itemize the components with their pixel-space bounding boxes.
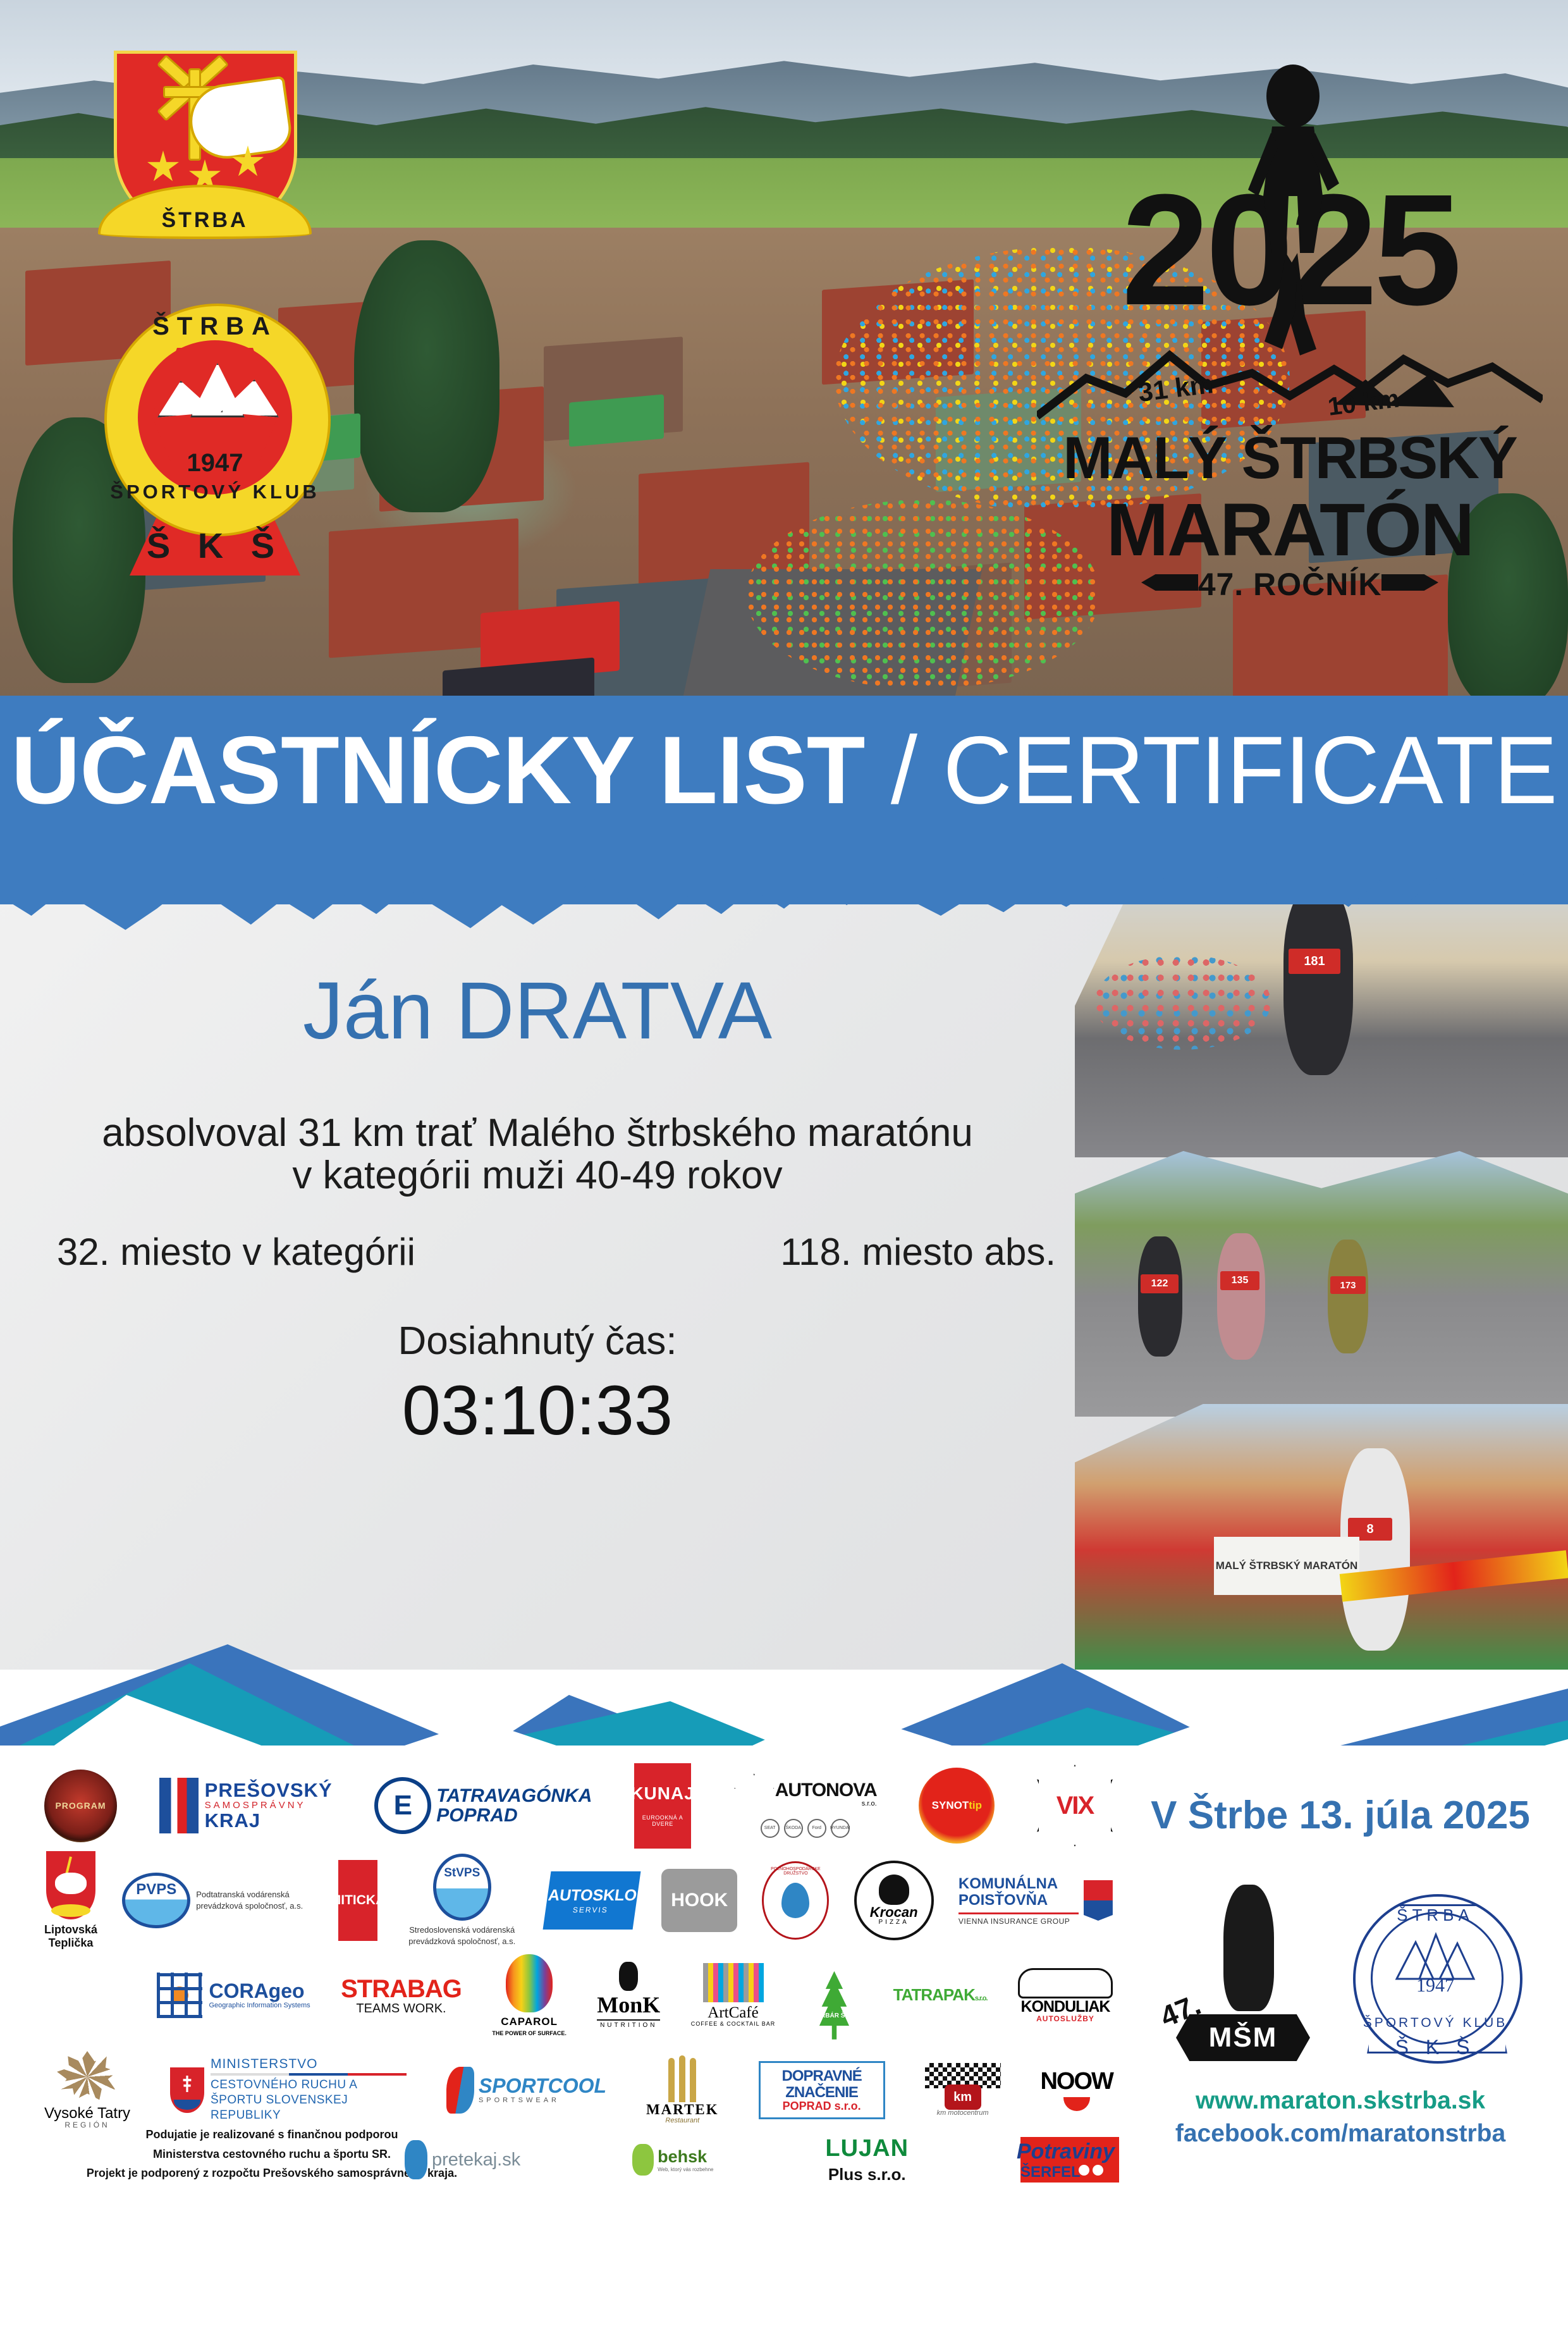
page-title: ÚČASTNÍCKY LIST / CERTIFICATE <box>0 722 1568 818</box>
club-emblems: ŠTRBA ŠTRBA 1947 ŠPORTOVÝ KLUB Š K Š <box>82 51 348 620</box>
sponsor-label: pretekaj.sk <box>432 2150 520 2170</box>
sponsor-ps-urbar-strba: PS URBÁR ŠTRBA <box>806 1971 862 2020</box>
sponsor-label: MITICKÁ <box>338 1860 377 1941</box>
sponsor-row-1: PROGRAM PREŠOVSKÝ SAMOSPRÁVNY KRAJ E TAT… <box>44 1758 1113 1853</box>
sponsor-label: NOOW <box>1040 2069 1112 2095</box>
tree-icon <box>814 1971 854 2040</box>
sponsor-program-trencin: PROGRAM <box>44 1770 117 1842</box>
sponsor-sublabel2: KRAJ <box>205 1811 333 1832</box>
sponsor-tatravagonka: E TATRAVAGÓNKA POPRAD <box>374 1777 592 1834</box>
sponsor-label: km motocentrum <box>925 2110 1001 2117</box>
race-title-line2: MARATÓN <box>1024 487 1555 573</box>
sks-club-emblem-icon: ŠTRBA 1947 ŠPORTOVÝ KLUB Š K Š <box>82 259 348 576</box>
brand-badge-ford: Ford <box>807 1819 826 1838</box>
sponsor-ministerstvo: MINISTERSTVO CESTOVNÉHO RUCHU A ŠPORTU S… <box>170 2057 407 2122</box>
sponsor-komunalna-poistovna: KOMUNÁLNA POISŤOVŇA VIENNA INSURANCE GRO… <box>959 1876 1113 1925</box>
sponsor-label: Krocan <box>870 1905 918 1919</box>
sponsor-label: HOOK <box>661 1869 737 1932</box>
sponsor-dopravne-znacenie: DOPRAVNÉ ZNAČENIE POPRAD s.r.o. <box>759 2061 885 2119</box>
bib-number: 173 <box>1330 1276 1366 1294</box>
brand-badge-seat: SEAT <box>761 1819 780 1838</box>
cutlery-icon <box>646 2055 719 2102</box>
sponsor-presovsky-kraj: PREŠOVSKÝ SAMOSPRÁVNY KRAJ <box>159 1778 333 1833</box>
photo-collage: 181 122 135 173 8 MALÝ ŠTRBSKÝ MARATÓN <box>1075 860 1568 1670</box>
artcafe-bars-icon <box>703 1963 764 2002</box>
brand-badge-skoda: ŠKODA <box>784 1819 803 1838</box>
runner-icon <box>619 1962 638 1991</box>
sponsor-grid: PROGRAM PREŠOVSKÝ SAMOSPRÁVNY KRAJ E TAT… <box>44 1758 1113 2138</box>
sponsor-sublabel: Teplička <box>44 1936 97 1950</box>
sponsor-pvps: PVPS Podtatranská vodárenská prevádzková… <box>122 1873 313 1928</box>
sponsor-miticka: MITICKÁ <box>338 1860 377 1941</box>
sponsor-sublabel: SPORTSWEAR <box>479 2097 606 2105</box>
sponsor-noow: NOOW <box>1040 2069 1112 2111</box>
corageo-grid-icon <box>157 1973 202 2018</box>
sponsor-sublabel: tip <box>969 1799 982 1811</box>
sponsor-caparol: CAPAROL THE POWER OF SURFACE. <box>492 1954 567 2036</box>
sponsor-vix: VIX <box>1037 1764 1113 1847</box>
page-title-en: CERTIFICATE <box>943 717 1557 824</box>
sponsor-label: TATRAVAGÓNKA <box>436 1786 592 1806</box>
mountain-peaks-icon <box>1394 1931 1476 1981</box>
sponsor-hook: HOOK <box>661 1869 737 1932</box>
sponsor-sublabel: CESTOVNÉHO RUCHU A ŠPORTU SLOVENSKEJ REP… <box>211 2078 407 2122</box>
website-url[interactable]: www.maraton.skstrba.sk <box>1132 2087 1549 2115</box>
sponsor-stvps: StVPS Stredoslovenská vodárenská prevádz… <box>402 1854 522 1947</box>
sponsor-sublabel: POPRAD <box>436 1806 592 1826</box>
sponsor-strabag: STRABAG TEAMS WORK. <box>341 1976 462 2016</box>
sponsor-label: SYNOT <box>932 1799 969 1811</box>
sponsor-row-2: Liptovská Teplička PVPS Podtatranská vod… <box>44 1853 1113 1948</box>
car-icon <box>1018 1968 1113 1998</box>
sponsor-label: Vysoké Tatry <box>44 2105 130 2121</box>
noow-dot-icon <box>1063 2097 1090 2111</box>
sponsor-pd-strba: POĽNOHOSPODÁRSKE DRUŽSTVO <box>762 1861 829 1940</box>
page-title-separator: / <box>865 717 943 824</box>
sponsor-sublabel: ŠERFEL <box>1020 2164 1081 2181</box>
sponsor-autonova: AUTONOVA s.r.o. SEAT ŠKODA Ford HYUNDAI <box>733 1773 877 1838</box>
runner-icon <box>632 2144 654 2176</box>
liptovska-teplicka-crest-icon <box>46 1851 95 1919</box>
bib-number: 135 <box>1220 1271 1259 1290</box>
race-edition: 47. ROČNÍK <box>1024 566 1555 603</box>
footer-right-column: V Štrbe 13. júla 2025 47. MŠM ŠTRBA 1947… <box>1132 1758 1549 2201</box>
sponsor-vysoke-tatry: Vysoké Tatry REGIÓN <box>44 2051 130 2129</box>
sponsor-kunaj: KUNAJ EUROOKNÁ A DVERE <box>634 1763 691 1849</box>
sponsor-sublabel: s.r.o. <box>775 1801 877 1808</box>
sks-top-text: ŠTRBA <box>104 312 326 341</box>
sponsor-sublabel: VIENNA INSURANCE GROUP <box>959 1918 1079 1926</box>
sponsor-label: PVPS <box>136 1881 176 1897</box>
sponsor-label: AUTONOVA <box>775 1780 877 1801</box>
runner-name: Ján DRATVA <box>0 971 1075 1052</box>
photo-finishing-female-runner: 181 <box>1075 860 1568 1157</box>
sponsor-sublabel: Podtatranská vodárenská prevádzková spol… <box>196 1889 313 1911</box>
sponsor-sublabel: Web, ktorý vás rozbehne <box>658 2167 713 2172</box>
sponsor-footer: PROGRAM PREŠOVSKÝ SAMOSPRÁVNY KRAJ E TAT… <box>0 1746 1568 2219</box>
sponsor-sublabel: THE POWER OF SURFACE. <box>492 2031 567 2036</box>
stamp-abbr: Š K Š <box>1353 2036 1517 2352</box>
sponsor-sublabel: POĽNOHOSPODÁRSKE DRUŽSTVO <box>764 1867 827 1876</box>
sponsor-row-5: pretekaj.sk behsk Web, ktorý vás rozbehn… <box>405 2119 1119 2201</box>
mountain-profile-icon <box>1037 342 1543 424</box>
sponsor-martek: MARTEK Restaurant <box>646 2055 719 2125</box>
sponsor-artcafe: ArtCafé COFFEE & COCKTAIL BAR <box>691 1963 776 2028</box>
sponsor-label: KONDULIAK <box>1018 1998 1113 2015</box>
tatravagonka-icon: E <box>374 1777 431 1834</box>
sks-year: 1947 <box>138 449 292 477</box>
sponsor-pretekaj-sk[interactable]: pretekaj.sk <box>405 2140 520 2179</box>
sponsor-konduliak: KONDULIAK AUTOSLUŽBY <box>1018 1968 1113 2023</box>
sponsor-km-motocentrum: km km motocentrum <box>925 2063 1001 2117</box>
facebook-url[interactable]: facebook.com/maratonstrba <box>1132 2120 1549 2148</box>
sponsor-lujan-plus: LUJAN Plus s.r.o. <box>825 2135 909 2184</box>
stamp-year: 1947 <box>1371 1975 1500 1997</box>
sponsor-sublabel: Stredoslovenská vodárenská prevádzková s… <box>402 1924 522 1947</box>
sponsor-sublabel: AUTOSLUŽBY <box>1018 2015 1113 2023</box>
sponsor-label: PROGRAM <box>55 1801 106 1811</box>
sponsor-label: KUNAJ <box>630 1784 694 1802</box>
sponsor-label: VIX <box>1057 1792 1093 1819</box>
sponsor-label: CORAgeo <box>209 1981 310 2002</box>
sponsor-tatrapak: TATRAPAKs.r.o. <box>893 1986 988 2004</box>
sponsor-sublabel: POPRAD s.r.o. <box>763 2100 881 2112</box>
sponsor-row-3: CORAgeo Geographic Information Systems S… <box>44 1948 1113 2043</box>
sponsor-krocan-pizza: Krocan PIZZA <box>854 1861 934 1940</box>
sponsor-label: STRABAG <box>341 1976 462 2002</box>
runner-silhouette-icon <box>1239 63 1347 360</box>
sponsor-label: AUTOSKLO <box>547 1887 638 1904</box>
place-absolute: 118. miesto abs. <box>780 1230 1056 1274</box>
event-date: V Štrbe 13. júla 2025 <box>1132 1793 1549 1838</box>
msm-logo: 47. MŠM <box>1157 1885 1328 2068</box>
sponsor-monk-nutrition: MonK NUTRITION <box>597 1962 660 2029</box>
page-title-sk: ÚČASTNÍCKY LIST <box>11 717 864 824</box>
sponsor-label: LUJAN <box>825 2135 909 2162</box>
finish-time: 03:10:33 <box>0 1372 1075 1449</box>
stamp-top-text: ŠTRBA <box>1353 1906 1517 1925</box>
sponsor-autosklo-servis: AUTOSKLO SERVIS <box>547 1871 637 1930</box>
sponsor-sublabel: TEAMS WORK. <box>341 2002 462 2016</box>
msm-abbr: MŠM <box>1209 2022 1278 2053</box>
sponsor-label: StVPS <box>444 1867 480 1880</box>
stamp-arc-text: ŠPORTOVÝ KLUB <box>1353 2016 1517 2031</box>
vysoke-tatry-icon <box>57 2051 118 2103</box>
sponsor-corageo: CORAgeo Geographic Information Systems <box>157 1973 310 2018</box>
sponsor-beh-sk[interactable]: behsk Web, ktorý vás rozbehne <box>632 2144 713 2176</box>
sponsor-label: KOMUNÁLNA POISŤOVŇA <box>959 1876 1079 1909</box>
race-title-line1: MALÝ ŠTRBSKÝ <box>1024 424 1555 492</box>
sponsor-label: TATRAPAK <box>893 1985 975 2004</box>
turkey-icon <box>879 1875 909 1905</box>
bib-number: 181 <box>1289 949 1340 974</box>
sponsor-label: Potraviny <box>1017 2140 1115 2164</box>
sponsor-sublabel: COFFEE & COCKTAIL BAR <box>691 2021 776 2027</box>
runner-silhouette-icon <box>1223 1885 1274 2011</box>
bib-number: 122 <box>1141 1274 1179 1293</box>
sponsor-sublabel: Geographic Information Systems <box>209 2002 310 2010</box>
race-logo: 2025 31 km 10 km MALÝ ŠTRBSKÝ MARATÓN 47… <box>1024 44 1555 607</box>
finish-banner-text: MALÝ ŠTRBSKÝ MARATÓN <box>1214 1537 1359 1595</box>
sponsor-sublabel: SERVIS <box>572 1906 609 1914</box>
sponsor-label: SPORTCOOL <box>479 2076 606 2097</box>
description-line-2: v kategórii muži 40-49 rokov <box>0 1149 1075 1202</box>
sponsor-label: CAPAROL <box>492 2016 567 2028</box>
sponsor-label: DOPRAVNÉ ZNAČENIE <box>763 2068 881 2100</box>
kp-flag-icon <box>1084 1880 1113 1921</box>
sks-abbr: Š K Š <box>130 525 300 566</box>
sponsor-label: MARTEK <box>646 2102 719 2117</box>
sponsor-label: MonK <box>597 1993 660 2017</box>
sponsor-label: MINISTERSTVO <box>211 2057 407 2071</box>
sponsor-potraviny-serfel: Potraviny ŠERFEL <box>1020 2137 1119 2183</box>
sponsor-sublabel: NUTRITION <box>597 2023 660 2029</box>
sponsor-sportcool: SPORTCOOL SPORTSWEAR <box>446 2067 606 2114</box>
sponsor-sublabel: EUROOKNÁ A DVERE <box>634 1815 691 1827</box>
sponsor-label: PREŠOVSKÝ <box>205 1780 333 1801</box>
sponsor-label: Liptovská <box>44 1923 97 1936</box>
certificate-content: Ján DRATVA absolvoval 31 km trať Malého … <box>0 873 1113 1632</box>
sponsor-label: behsk <box>658 2147 713 2167</box>
sportcool-swoosh-icon <box>446 2067 474 2114</box>
sks-arc-text: ŠPORTOVÝ KLUB <box>104 481 326 503</box>
autonova-burst-icon <box>733 1773 775 1815</box>
photo-runners-on-course: 122 135 173 <box>1075 1151 1568 1417</box>
psk-flag-icon <box>159 1778 199 1833</box>
runner-icon <box>405 2140 427 2179</box>
crest-banner-text: ŠTRBA <box>161 208 248 237</box>
sponsor-sublabel: s.r.o. <box>975 1995 988 2002</box>
club-stamp: ŠTRBA 1947 ŠPORTOVÝ KLUB Š K Š <box>1340 1881 1530 2071</box>
sponsor-sublabel: Plus s.r.o. <box>825 2165 909 2184</box>
slovak-coat-of-arms-icon <box>170 2067 204 2113</box>
strba-coat-of-arms-icon: ŠTRBA <box>114 51 291 253</box>
sponsor-synot-tip: SYNOTtip <box>919 1768 995 1844</box>
sponsor-liptovska-teplicka: Liptovská Teplička <box>44 1851 97 1949</box>
brand-badge-hyundai: HYUNDAI <box>831 1819 850 1838</box>
sponsor-label: ArtCafé <box>691 2005 776 2021</box>
sponsor-sublabel: PIZZA <box>879 1919 909 1926</box>
pd-strba-icon: POĽNOHOSPODÁRSKE DRUŽSTVO <box>762 1861 829 1940</box>
caparol-elephant-icon <box>506 1954 553 2012</box>
sponsor-label: PS URBÁR ŠTRBA <box>806 2013 862 2020</box>
placements: 32. miesto v kategórii 118. miesto abs. <box>0 1230 1113 1274</box>
place-category: 32. miesto v kategórii <box>57 1230 415 1274</box>
time-label: Dosiahnutý čas: <box>0 1319 1075 1364</box>
